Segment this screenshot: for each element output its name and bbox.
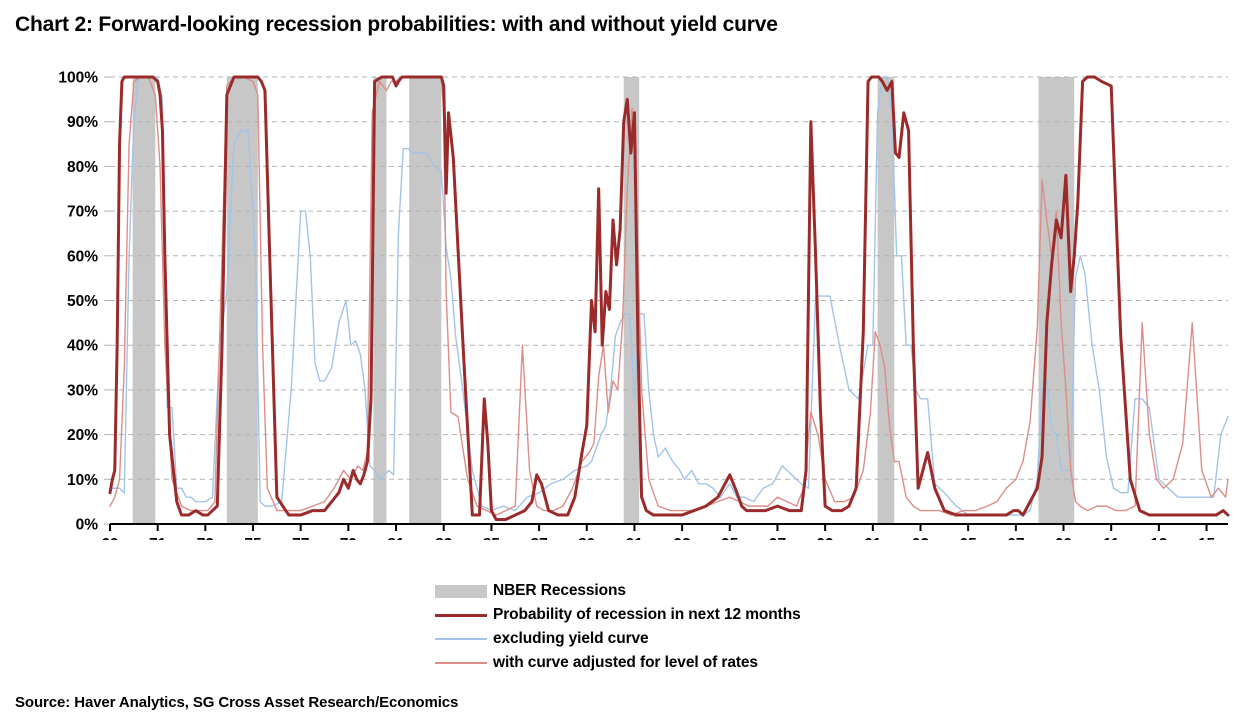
recession-probability-chart: 0%10%20%30%40%50%60%70%80%90%100% 697173… xyxy=(0,60,1245,540)
legend-label: Probability of recession in next 12 mont… xyxy=(493,606,801,624)
page-title: Chart 2: Forward-looking recession proba… xyxy=(15,13,778,37)
y-tick-label: 60% xyxy=(67,248,98,265)
x-tick-label: 07 xyxy=(1007,536,1024,540)
x-tick-label: 09 xyxy=(1055,536,1073,540)
x-tick-label: 13 xyxy=(1150,536,1168,540)
x-tick-label: 69 xyxy=(101,536,119,540)
x-tick-label: 97 xyxy=(769,536,786,540)
y-tick-label: 30% xyxy=(67,382,98,399)
x-tick-label: 81 xyxy=(387,536,405,540)
legend-item-0[interactable]: NBER Recessions xyxy=(435,580,955,602)
source-note: Source: Haver Analytics, SG Cross Asset … xyxy=(15,694,458,711)
x-tick-label: 87 xyxy=(530,536,547,540)
y-tick-label: 50% xyxy=(67,293,98,310)
x-tick-label: 03 xyxy=(912,536,930,540)
legend-item-2[interactable]: excluding yield curve xyxy=(435,628,955,650)
y-tick-label: 0% xyxy=(76,517,99,534)
chart-legend: NBER RecessionsProbability of recession … xyxy=(435,580,955,676)
y-tick-label: 20% xyxy=(67,427,98,444)
x-tick-label: 01 xyxy=(864,536,882,540)
x-tick-label: 99 xyxy=(817,536,835,540)
x-tick-label: 73 xyxy=(197,536,215,540)
chart-plot-area: 0%10%20%30%40%50%60%70%80%90%100% 697173… xyxy=(0,60,1245,540)
legend-swatch-line xyxy=(435,633,487,646)
x-tick-label: 91 xyxy=(626,536,644,540)
x-tick-label: 77 xyxy=(292,536,309,540)
legend-line-mark xyxy=(435,662,487,663)
x-tick-label: 89 xyxy=(578,536,596,540)
x-tick-label: 05 xyxy=(960,536,978,540)
legend-item-3[interactable]: with curve adjusted for level of rates xyxy=(435,652,955,674)
x-axis-labels: 6971737577798183858789919395979901030507… xyxy=(101,524,1228,540)
legend-swatch-line xyxy=(435,657,487,670)
x-tick-label: 79 xyxy=(340,536,358,540)
x-tick-label: 75 xyxy=(244,536,262,540)
y-axis-labels: 0%10%20%30%40%50%60%70%80%90%100% xyxy=(58,70,110,534)
x-tick-label: 85 xyxy=(483,536,501,540)
x-tick-label: 93 xyxy=(673,536,691,540)
y-tick-label: 90% xyxy=(67,114,98,131)
legend-label: excluding yield curve xyxy=(493,630,649,648)
y-tick-label: 100% xyxy=(58,70,98,87)
legend-line-mark xyxy=(435,638,487,639)
y-tick-label: 40% xyxy=(67,338,98,355)
legend-swatch-line xyxy=(435,609,487,622)
legend-item-1[interactable]: Probability of recession in next 12 mont… xyxy=(435,604,955,626)
legend-label: NBER Recessions xyxy=(493,582,626,600)
x-tick-label: 15 xyxy=(1198,536,1216,540)
legend-swatch-recession-band xyxy=(435,585,487,598)
y-tick-label: 80% xyxy=(67,159,98,176)
legend-line-mark xyxy=(435,614,487,617)
y-tick-label: 70% xyxy=(67,204,98,221)
x-tick-label: 71 xyxy=(149,536,167,540)
x-tick-label: 11 xyxy=(1103,536,1120,540)
x-tick-label: 83 xyxy=(435,536,453,540)
y-tick-label: 10% xyxy=(67,472,98,489)
x-tick-label: 95 xyxy=(721,536,739,540)
legend-label: with curve adjusted for level of rates xyxy=(493,654,758,672)
recession-band-0 xyxy=(133,77,156,524)
